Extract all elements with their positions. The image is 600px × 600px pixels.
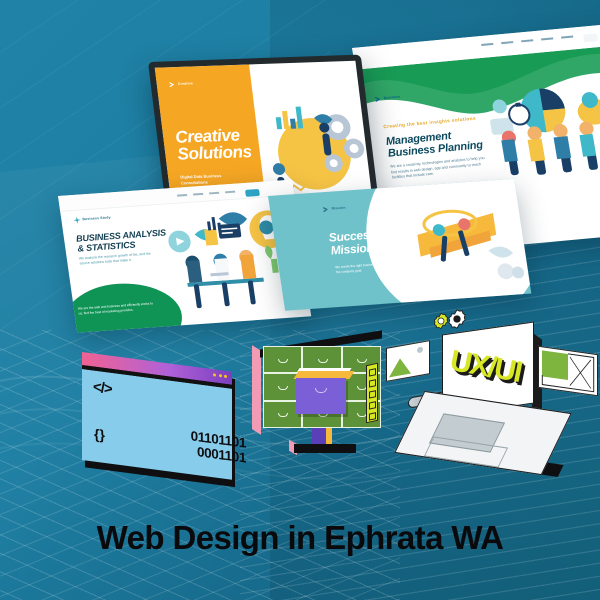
card-business-analysis-body: We analysis the research growth of the, … [79,251,160,267]
code-window[interactable]: </> {} 01101101 0001101 [82,352,232,480]
wireframe-icon [538,346,598,396]
nav-dash [501,41,513,44]
card-business-analysis-title: BUSINESS ANALYSIS & STATISTICS [76,229,168,254]
card-creative-logo-text: Creative [178,82,193,86]
nav-dash [225,191,235,193]
card-business-analysis-logo: Business Study [73,214,111,224]
nav-button[interactable] [245,189,260,197]
card-management-logo-text: Business [384,95,401,100]
poster-canvas: Business Creating the best insights solu… [0,0,600,600]
cabinet-foot [294,444,356,453]
chevron-icon [322,206,330,213]
card-mission-logo-text: Mission [331,206,346,210]
sparkle-icon [73,216,81,223]
nav-dash [481,43,493,46]
wireframe-lines [539,347,597,395]
code-tag-icon: </> [93,378,112,397]
nav-dash [561,36,573,39]
open-drawer[interactable] [296,378,346,414]
card-successful-mission[interactable]: Mission Successful Mission We create the… [268,179,531,311]
card-business-analysis-logo-text: Business Study [82,216,111,221]
drawer-handle-icon [357,359,367,363]
drawer-handle-icon [278,386,288,390]
nav-dash [177,194,187,196]
nav-dash [541,37,553,40]
code-brace-icon: {} [94,426,105,443]
cabinet-side-panel [252,345,261,435]
cabinet-cell[interactable] [263,346,302,373]
mountain-shape [389,356,411,377]
card-mission-title: Successful Mission [328,228,392,257]
image-icon [386,340,430,382]
tool-palette-icon [366,363,378,424]
page-title: Web Design in Ephrata WA [0,519,600,557]
nav-dash [209,192,219,194]
card-creative-logo: Creative [168,80,193,88]
card-mission-illustration [391,197,531,301]
chevron-icon [374,95,382,103]
drawer-handle-icon [278,413,288,417]
chevron-icon [168,81,176,88]
card-creative-title: Creative Solutions [174,126,252,163]
drawer-handle-icon [318,359,328,363]
card-management-body: We are a creativity, technologies and an… [390,156,489,181]
gear-icon [446,308,468,330]
drawer-handle-icon [278,359,288,363]
nav-button[interactable] [583,33,598,42]
nav-dash [193,193,203,195]
sun-shape [417,346,423,353]
uxui-laptop[interactable]: UX/UI [390,322,590,482]
nav-dash [521,39,533,42]
card-mission-logo: Mission [322,205,346,214]
window-dots [213,373,227,378]
